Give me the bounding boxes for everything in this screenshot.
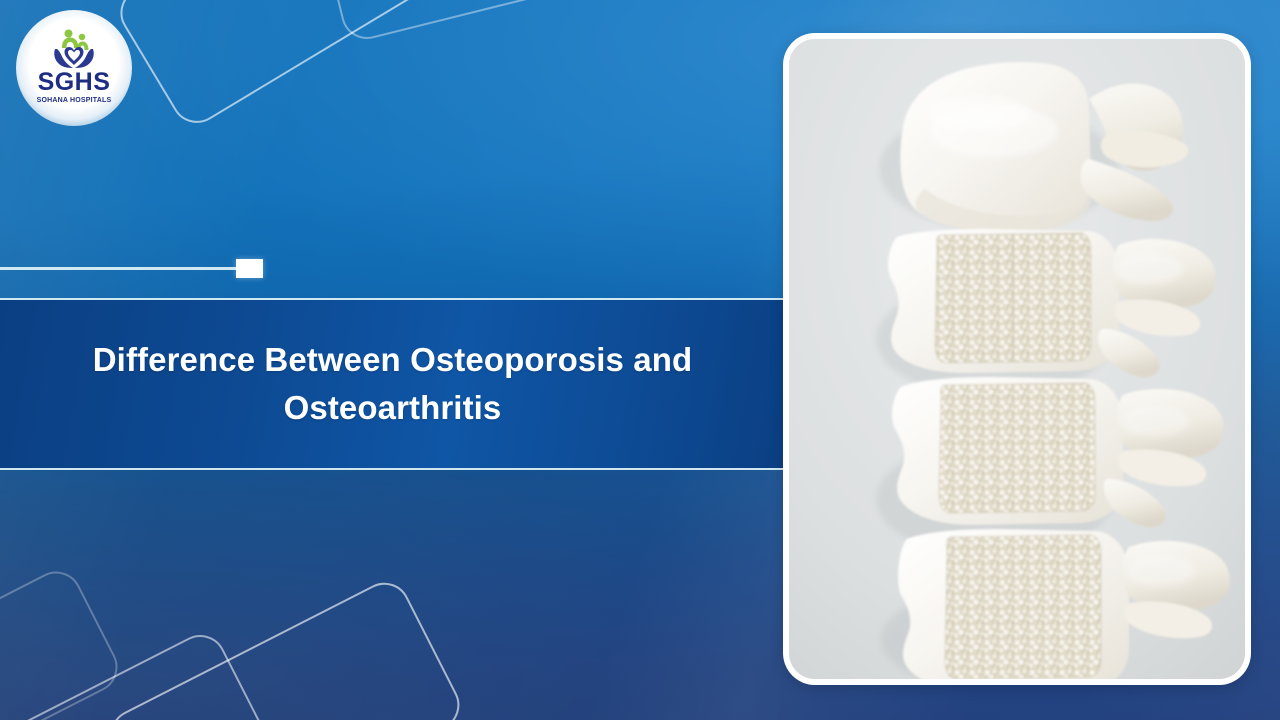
- logo-tagline: SOHANA HOSPITALS: [37, 97, 112, 104]
- logo-wordmark: SGHS: [38, 70, 111, 95]
- spine-image-frame: [789, 39, 1245, 679]
- accent-rule-block: [236, 259, 263, 278]
- hands-heart-family-icon: [48, 29, 100, 69]
- accent-rule-line: [0, 267, 238, 270]
- decorative-rounded-rect-bottom-2: [0, 626, 280, 720]
- decorative-rounded-rect-top-1: [111, 0, 445, 133]
- spine-vertebrae-illustration: [789, 39, 1245, 679]
- decorative-rounded-rect-bottom-1: [102, 574, 469, 720]
- promo-banner-root: SGHS SOHANA HOSPITALS Difference Between…: [0, 0, 1280, 720]
- brand-logo[interactable]: SGHS SOHANA HOSPITALS: [16, 10, 132, 126]
- decorative-rounded-rect-top-2: [319, 0, 591, 44]
- page-title: Difference Between Osteoporosis and Oste…: [36, 336, 749, 432]
- decorative-rounded-rect-bottom-3: [0, 563, 126, 720]
- spine-vertebrae-photo-card: [783, 33, 1251, 685]
- title-banner: Difference Between Osteoporosis and Oste…: [0, 300, 785, 468]
